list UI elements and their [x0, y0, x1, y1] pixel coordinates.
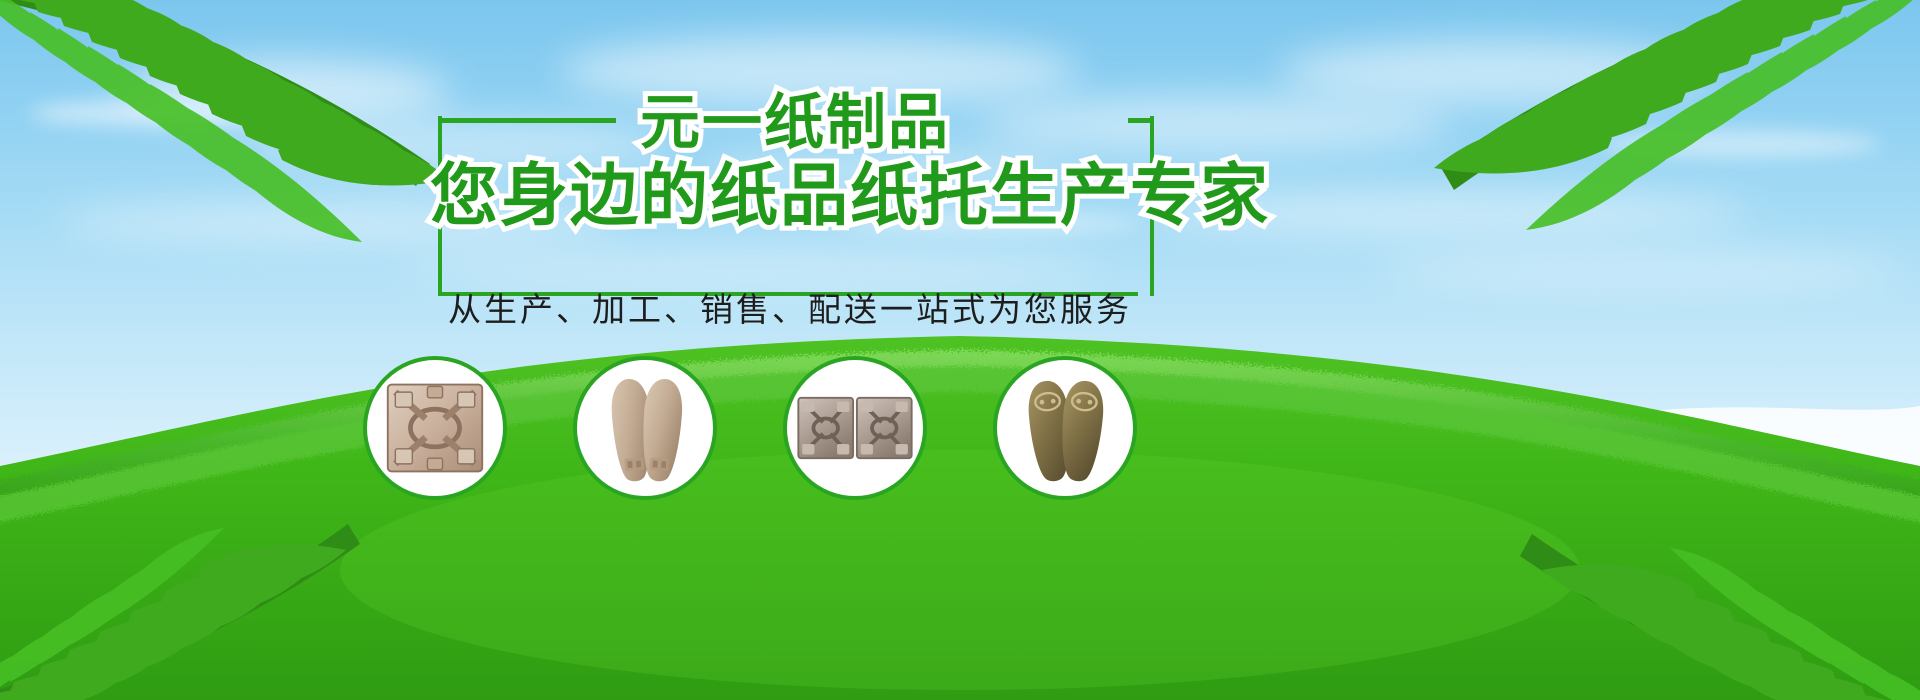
palm-leaf-icon: [1350, 0, 1920, 280]
product-circle-2[interactable]: [573, 356, 717, 500]
molded-pulp-shoe-insert-pair-icon: [577, 360, 713, 496]
promo-banner: 元一纸制品 您身边的纸品纸托生产专家 从生产、加工、销售、配送一站式为您服务: [0, 0, 1920, 700]
molded-pulp-corner-protector-pair-icon: [787, 360, 923, 496]
molded-pulp-square-tray-icon: [367, 360, 503, 496]
product-circle-4[interactable]: [993, 356, 1137, 500]
product-circle-3[interactable]: [783, 356, 927, 500]
palm-leaf-icon: [0, 450, 370, 700]
headline-block: 元一纸制品 您身边的纸品纸托生产专家: [430, 78, 1150, 308]
palm-leaf-icon: [1500, 460, 1920, 700]
subtitle-text: 从生产、加工、销售、配送一站式为您服务: [430, 283, 1150, 331]
headline-line-2: 您身边的纸品纸托生产专家: [430, 140, 1150, 239]
product-circle-1[interactable]: [363, 356, 507, 500]
molded-pulp-dark-shoe-insert-pair-icon: [997, 360, 1133, 496]
